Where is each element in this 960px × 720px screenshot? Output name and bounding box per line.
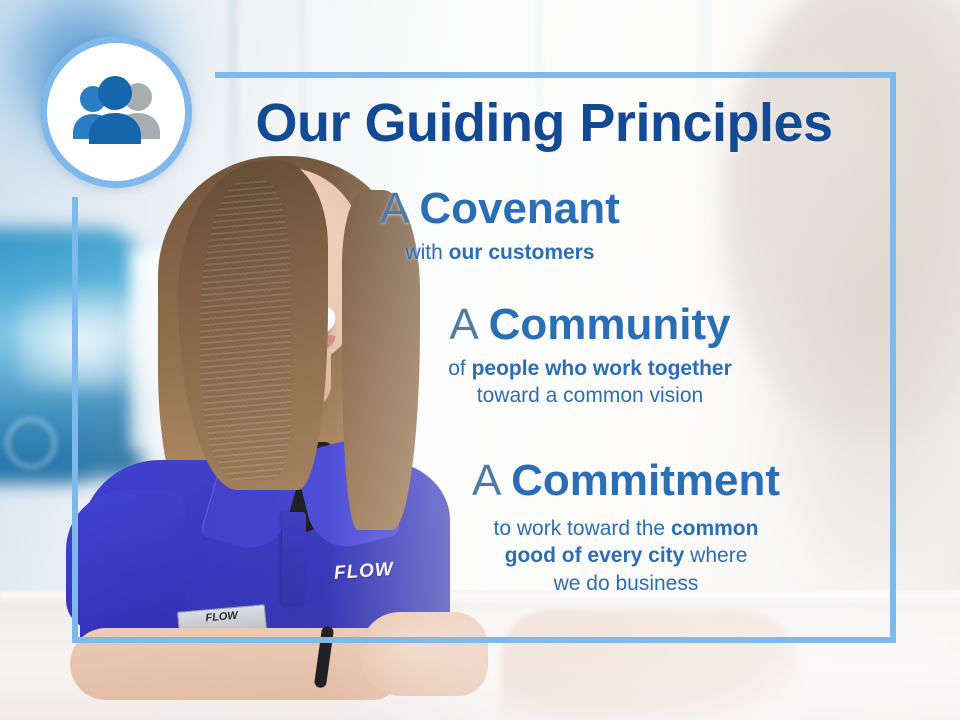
sub-line-2: toward a common vision: [477, 384, 703, 407]
people-badge: [40, 36, 192, 188]
page-title: Our Guiding Principles: [214, 96, 874, 150]
article-a: A: [472, 456, 511, 505]
article-a: A: [380, 184, 419, 233]
guiding-principles-graphic: FLOW FLOW: [0, 0, 960, 720]
group-of-people-icon: [64, 75, 168, 149]
principle-commitment-heading: A Commitment: [380, 458, 872, 505]
keyword-covenant: Covenant: [419, 184, 619, 233]
sub-prefix: to work toward the: [494, 517, 671, 540]
sub-bold-1: common: [671, 517, 759, 540]
sub-bold-2: good of every city: [505, 544, 685, 567]
principle-covenant-heading: A Covenant: [300, 186, 700, 233]
principle-commitment: A Commitment to work toward the common g…: [380, 458, 872, 598]
principle-covenant-subtitle: with our customers: [300, 239, 700, 267]
sub-suffix: where: [684, 544, 747, 567]
article-a: A: [449, 300, 488, 349]
sub-bold: people who work together: [472, 357, 732, 380]
principle-community-subtitle: of people who work together toward a com…: [330, 355, 850, 410]
sub-line-3: we do business: [554, 572, 699, 595]
principle-community: A Community of people who work together …: [330, 302, 850, 410]
keyword-commitment: Commitment: [511, 456, 780, 505]
principle-covenant: A Covenant with our customers: [300, 186, 700, 266]
principle-community-heading: A Community: [330, 302, 850, 349]
sub-prefix: of: [448, 357, 471, 380]
principle-commitment-subtitle: to work toward the common good of every …: [380, 515, 872, 598]
sub-prefix: with: [405, 241, 448, 264]
sub-bold: our customers: [449, 241, 595, 264]
keyword-community: Community: [489, 300, 731, 349]
